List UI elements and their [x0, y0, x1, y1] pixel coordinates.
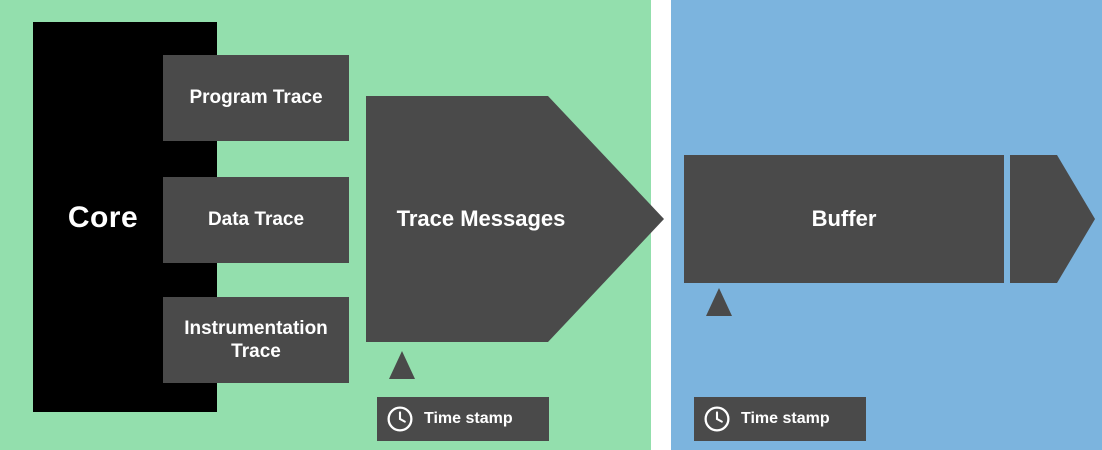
clock-icon [703, 405, 731, 433]
instrumentation-trace-block: Instrumentation Trace [163, 297, 349, 383]
diagram-canvas: Core Program Trace Data Trace Instrument… [0, 0, 1102, 450]
timestamp-pointer-right [706, 288, 732, 316]
timestamp-label-right: Time stamp [741, 410, 830, 428]
timestamp-callout-left: Time stamp [377, 397, 549, 441]
timestamp-pointer-left [389, 351, 415, 379]
program-trace-block: Program Trace [163, 55, 349, 141]
trace-messages-label: Trace Messages [366, 203, 596, 235]
data-trace-block: Data Trace [163, 177, 349, 263]
buffer-label: Buffer [684, 203, 1004, 235]
timestamp-callout-right: Time stamp [694, 397, 866, 441]
clock-icon [386, 405, 414, 433]
core-label: Core [33, 195, 173, 241]
timestamp-label-left: Time stamp [424, 410, 513, 428]
